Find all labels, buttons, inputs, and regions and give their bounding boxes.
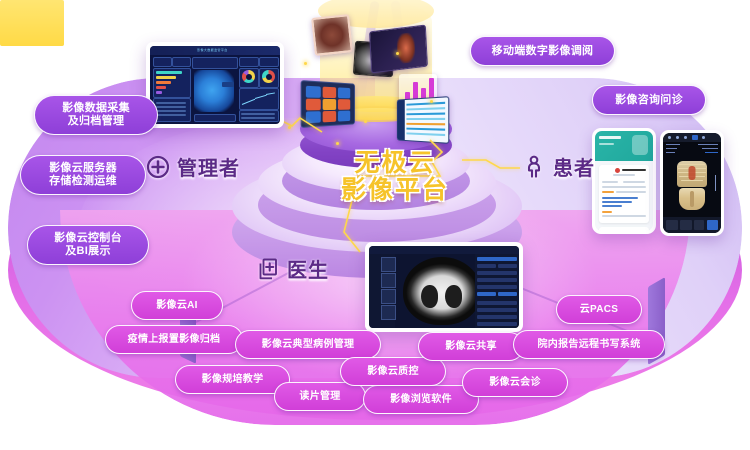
pill-patient-0[interactable]: 移动端数字影像调阅 (470, 36, 615, 66)
platform-title-line1: 无极云 (330, 150, 460, 177)
circle-plus-icon (146, 155, 170, 179)
platform-title-line2: 影像平台 (330, 177, 460, 204)
phone-viewer-toolbar (663, 133, 721, 142)
spark-5 (336, 142, 339, 145)
pill-doctor-1[interactable]: 疫情上报置影像归档 (105, 325, 243, 354)
pill-admin-0[interactable]: 影像数据采集 及归档管理 (34, 95, 158, 135)
device-pacs-workstation (365, 242, 523, 332)
actor-patient[interactable]: 患者 (522, 152, 595, 181)
actor-doctor-label: 医生 (287, 254, 329, 283)
phone-viewer-screen (663, 133, 721, 233)
pill-admin-2[interactable]: 影像云控制台 及BI展示 (27, 225, 149, 265)
phone-viewer-footer (663, 217, 721, 233)
actor-patient-label: 患者 (553, 152, 595, 181)
platform-title: 无极云 影像平台 (330, 150, 460, 204)
pacs-screen (369, 246, 519, 328)
spark-6 (288, 126, 291, 129)
phone-report-screen (595, 131, 653, 231)
actor-admin-label: 管理者 (177, 152, 240, 181)
pill-doctor-5[interactable]: 影像浏览软件 (363, 385, 479, 414)
pill-doctor-7[interactable]: 影像云质控 (340, 357, 446, 386)
device-phone-viewer (660, 130, 724, 236)
mini-screen-yellow-panel (0, 0, 64, 46)
device-dashboard-monitor: 影像大数据监管平台 (146, 42, 284, 128)
pill-doctor-0[interactable]: 影像云AI (131, 291, 223, 320)
mini-screen-app-tiles (301, 80, 355, 128)
phone-report-body (595, 161, 653, 231)
actor-admin[interactable]: 管理者 (146, 152, 240, 181)
pill-doctor-4[interactable]: 读片管理 (274, 382, 366, 411)
actor-doctor[interactable]: 医生 (256, 254, 329, 283)
pill-doctor-10[interactable]: 云PACS (556, 295, 642, 324)
pill-admin-1[interactable]: 影像云服务器 存储检测运维 (20, 155, 146, 195)
pacs-toolbar (369, 246, 519, 254)
pill-doctor-2[interactable]: 影像云典型病例管理 (235, 330, 381, 359)
pill-doctor-6[interactable]: 影像云会诊 (462, 368, 568, 397)
spark-4 (430, 100, 433, 103)
pill-doctor-8[interactable]: 影像云共享 (418, 332, 524, 361)
device-phone-report (592, 128, 656, 234)
spark-2 (396, 52, 399, 55)
pacs-report-panel (475, 254, 519, 328)
pill-doctor-3[interactable]: 影像规培教学 (175, 365, 290, 394)
spark-1 (304, 62, 307, 65)
ct-image-lung (403, 257, 481, 325)
mini-screen-endoscopy (311, 14, 353, 56)
pill-patient-1[interactable]: 影像咨询问诊 (592, 85, 706, 115)
mini-screen-data-table (397, 96, 449, 144)
infographic-canvas: 影像大数据监管平台 (0, 0, 750, 450)
mini-screen-radiology (369, 25, 428, 74)
pill-doctor-9[interactable]: 院内报告远程书写系统 (513, 330, 665, 359)
phone-report-header (595, 131, 653, 161)
person-icon (522, 155, 546, 179)
spark-3 (364, 120, 367, 123)
dashboard-title: 影像大数据监管平台 (197, 48, 228, 52)
medical-record-plus-icon (256, 257, 280, 281)
dashboard-screen: 影像大数据监管平台 (150, 46, 280, 124)
